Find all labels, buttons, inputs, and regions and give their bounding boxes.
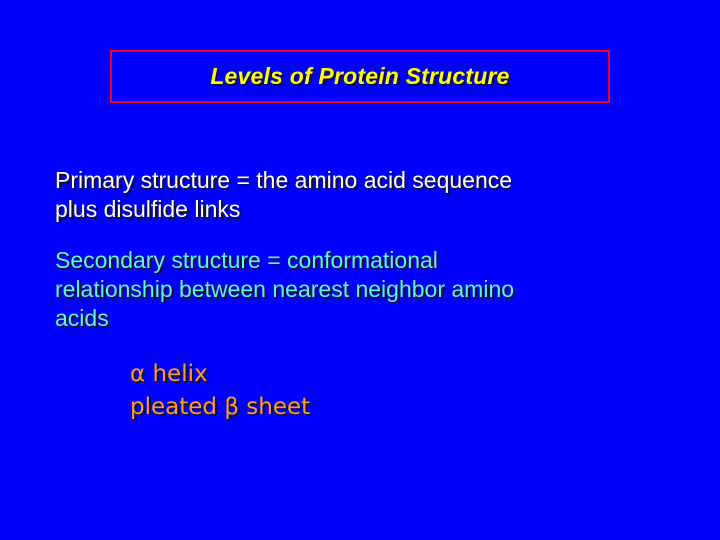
- title-box: Levels of Protein Structure: [110, 50, 610, 103]
- sublist-item-pleated-beta-sheet: pleated β sheet: [130, 391, 630, 424]
- primary-structure-line-2: plus disulfide links: [55, 196, 240, 222]
- sublist-item-alpha-helix: α helix: [130, 358, 630, 391]
- primary-structure-line-1: Primary structure = the amino acid seque…: [55, 167, 512, 193]
- page-title: Levels of Protein Structure: [210, 65, 509, 88]
- secondary-structure-line-3: acids: [55, 305, 109, 331]
- secondary-structure-line-1: Secondary structure = conformational: [55, 247, 438, 273]
- body-text-primary-structure: Primary structure = the amino acid seque…: [55, 166, 655, 224]
- secondary-structure-line-2: relationship between nearest neighbor am…: [55, 276, 514, 302]
- body-text-secondary-structure: Secondary structure = conformational rel…: [55, 246, 655, 333]
- secondary-structure-sublist: α helix pleated β sheet: [130, 358, 630, 424]
- slide-canvas: Levels of Protein Structure Primary stru…: [0, 0, 720, 540]
